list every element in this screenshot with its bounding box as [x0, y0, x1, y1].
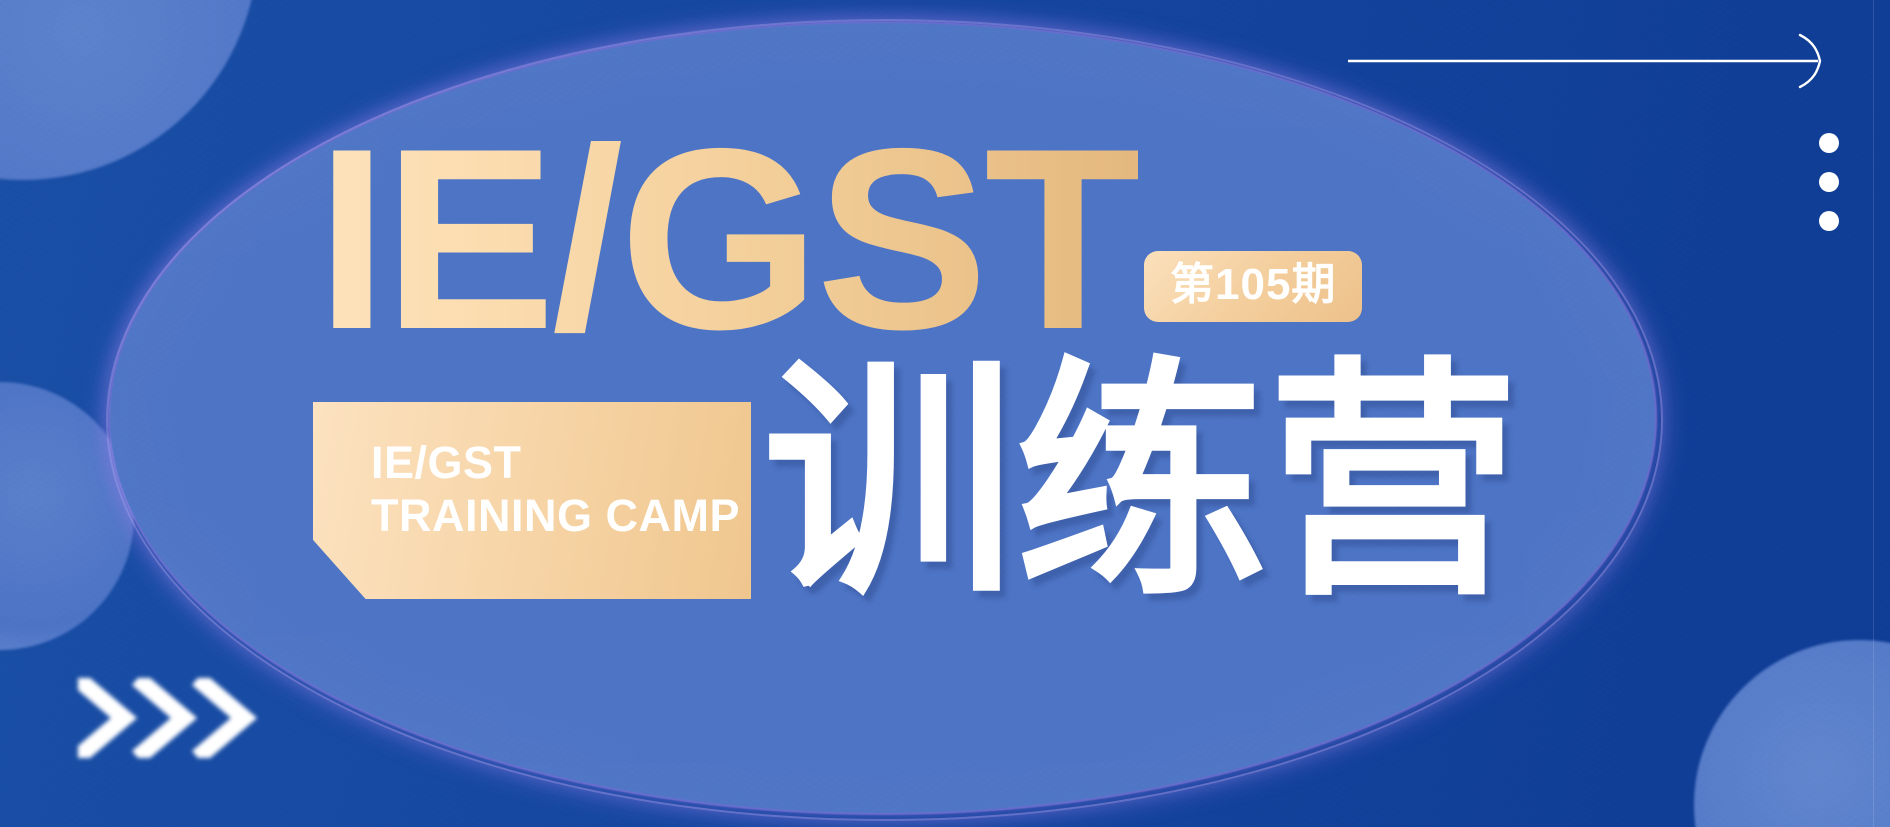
- background-circle-top-left: [0, 0, 258, 180]
- dot-icon: [1819, 133, 1839, 153]
- three-dots-decoration: [1819, 133, 1839, 231]
- issue-badge: 第105期: [1144, 251, 1362, 322]
- chevron-arrows-decoration: [78, 678, 278, 758]
- main-title: IE/GST: [316, 110, 1138, 368]
- chinese-title: 训练营: [763, 358, 1519, 610]
- arrow-right-icon: [1348, 30, 1848, 92]
- right-edge-seam: [1873, 0, 1874, 827]
- background-circle-bottom-right: [1694, 640, 1890, 827]
- english-subtitle-text: IE/GST TRAINING CAMP: [371, 437, 740, 542]
- dot-icon: [1819, 211, 1839, 231]
- promo-banner: IE/GST 第105期 IE/GST TRAINING CAMP 训练营: [0, 0, 1890, 827]
- dot-icon: [1819, 172, 1839, 192]
